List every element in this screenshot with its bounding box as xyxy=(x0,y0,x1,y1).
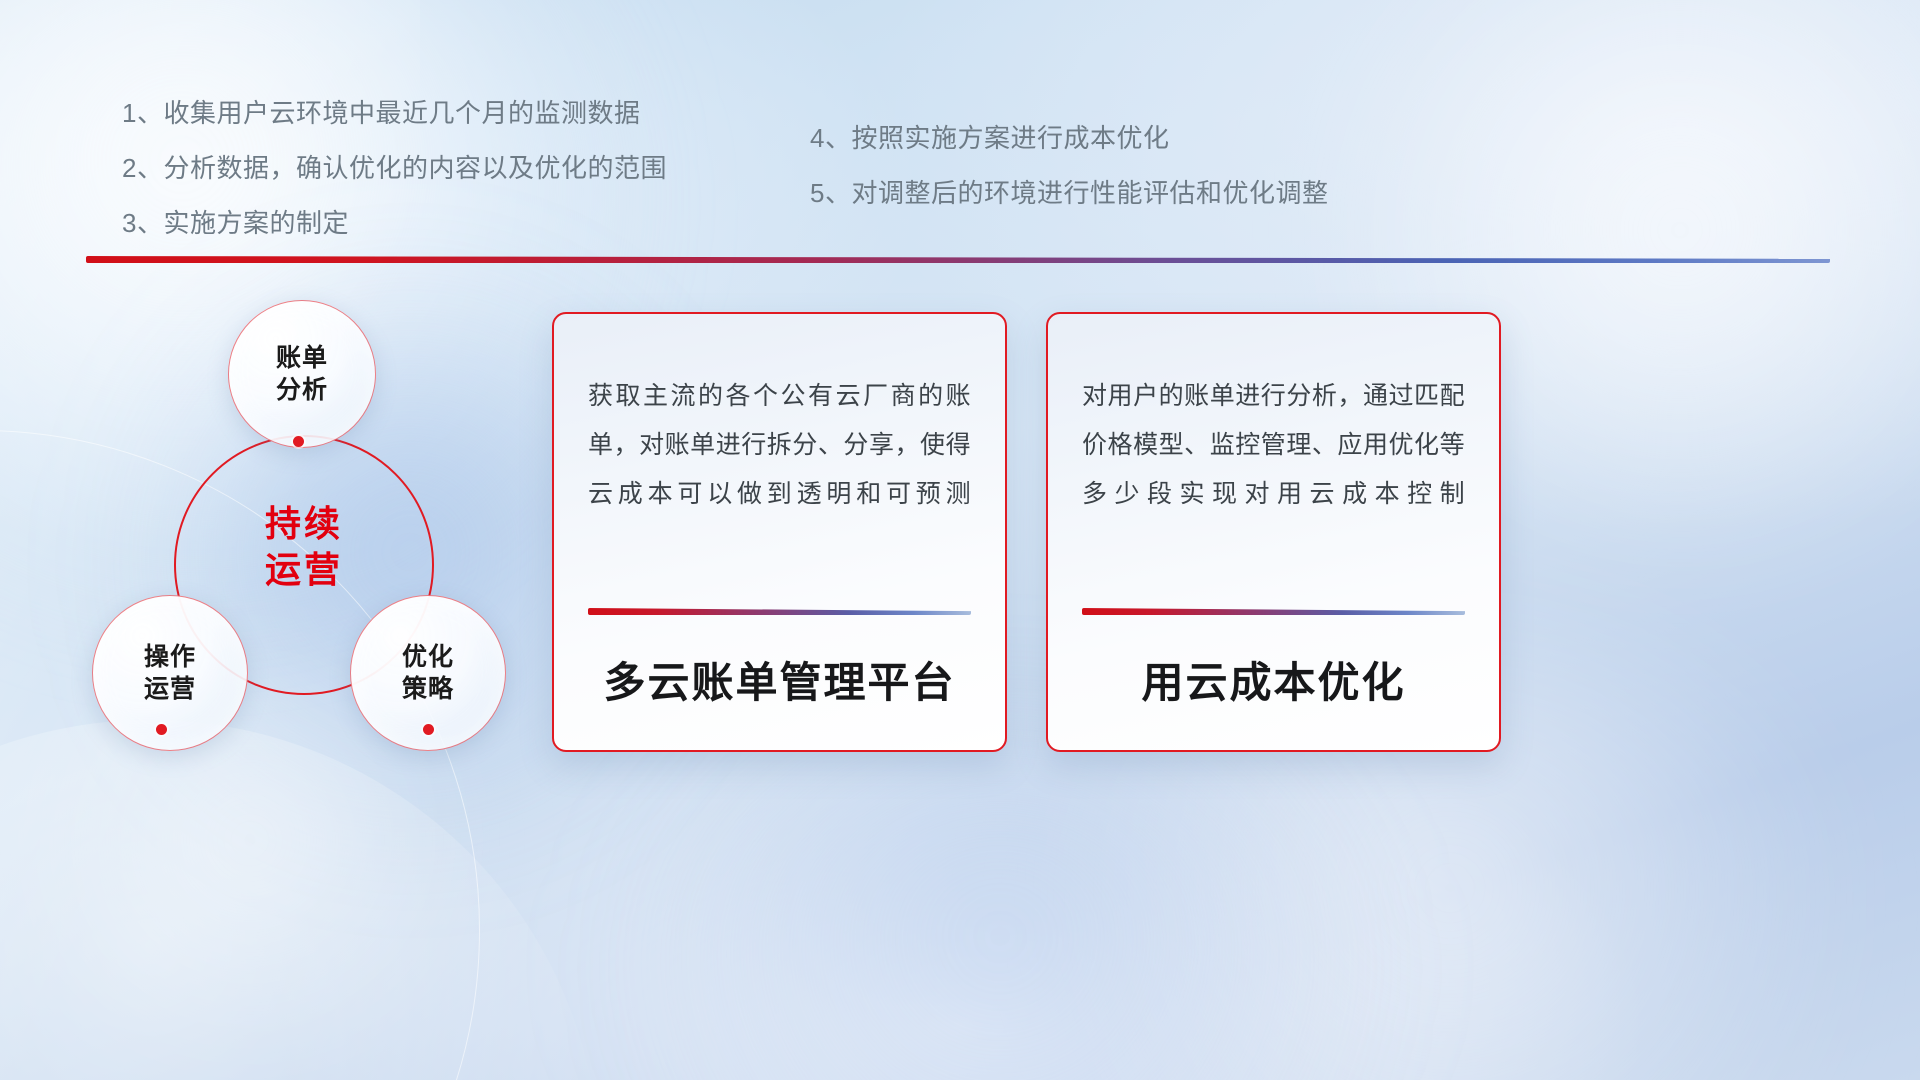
card-body-text: 对用户的账单进行分析，通过匹配价格模型、监控管理、应用优化等多少段实现对用云成本… xyxy=(1082,372,1465,518)
venn-bubble-label-line2: 策略 xyxy=(402,673,454,706)
steps-list-left: 1、收集用户云环境中最近几个月的监测数据 2、分析数据，确认优化的内容以及优化的… xyxy=(122,100,667,265)
steps-list-right: 4、按照实施方案进行成本优化 5、对调整后的环境进行性能评估和优化调整 xyxy=(810,125,1328,235)
venn-node-dot-left xyxy=(156,724,167,735)
venn-node-dot-right xyxy=(423,724,434,735)
venn-diagram: 账单 分析 操作 运营 优化 策略 持续 运营 xyxy=(78,290,538,770)
card-title: 用云成本优化 xyxy=(1082,615,1465,750)
venn-bubble-label-line1: 优化 xyxy=(402,641,454,674)
list-item: 1、收集用户云环境中最近几个月的监测数据 xyxy=(122,100,667,126)
venn-center-label: 持续 运营 xyxy=(206,487,402,607)
feature-card-multi-cloud-billing[interactable]: 获取主流的各个公有云厂商的账单，对账单进行拆分、分享，使得云成本可以做到透明和可… xyxy=(552,312,1007,752)
card-title: 多云账单管理平台 xyxy=(588,615,971,750)
venn-center-line1: 持续 xyxy=(265,501,343,547)
card-divider xyxy=(1082,608,1465,615)
list-item: 4、按照实施方案进行成本优化 xyxy=(810,125,1328,151)
venn-center-line2: 运营 xyxy=(265,547,343,593)
venn-bubble-label-line1: 操作 xyxy=(144,641,196,674)
card-divider xyxy=(588,608,971,615)
venn-bubble-label-line1: 账单 xyxy=(276,342,328,375)
feature-card-cloud-cost-optimization[interactable]: 对用户的账单进行分析，通过匹配价格模型、监控管理、应用优化等多少段实现对用云成本… xyxy=(1046,312,1501,752)
list-item: 2、分析数据，确认优化的内容以及优化的范围 xyxy=(122,155,667,181)
list-item: 5、对调整后的环境进行性能评估和优化调整 xyxy=(810,180,1328,206)
list-item: 3、实施方案的制定 xyxy=(122,210,667,236)
venn-bubble-label-line2: 运营 xyxy=(144,673,196,706)
venn-bubble-label-line2: 分析 xyxy=(276,374,328,407)
venn-bubble-billing-analysis[interactable]: 账单 分析 xyxy=(228,300,376,448)
venn-bubble-operations[interactable]: 操作 运营 xyxy=(92,595,248,751)
card-body-text: 获取主流的各个公有云厂商的账单，对账单进行拆分、分享，使得云成本可以做到透明和可… xyxy=(588,372,971,518)
venn-node-dot-top xyxy=(293,436,304,447)
